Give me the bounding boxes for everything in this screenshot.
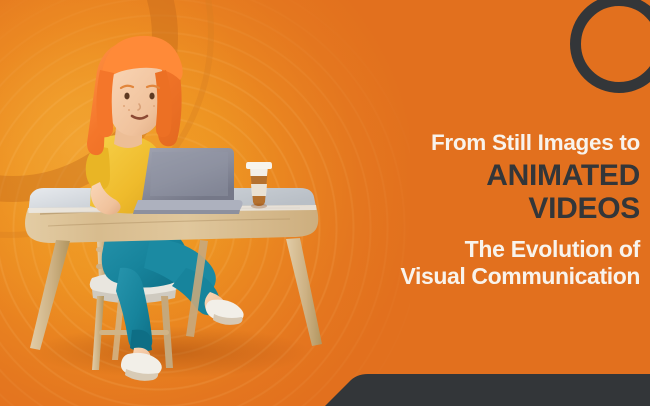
headline-line-2: ANIMATED (340, 159, 640, 192)
laptop (133, 148, 243, 214)
headline-line-3: VIDEOS (340, 192, 640, 225)
illustration-scene (0, 0, 340, 406)
promo-banner: From Still Images to ANIMATED VIDEOS The… (0, 0, 650, 406)
headline-line-1: From Still Images to (340, 130, 640, 156)
headline-block: From Still Images to ANIMATED VIDEOS The… (340, 130, 640, 290)
headline-line-4: The Evolution of (340, 236, 640, 263)
headline-line-5: Visual Communication (340, 263, 640, 290)
